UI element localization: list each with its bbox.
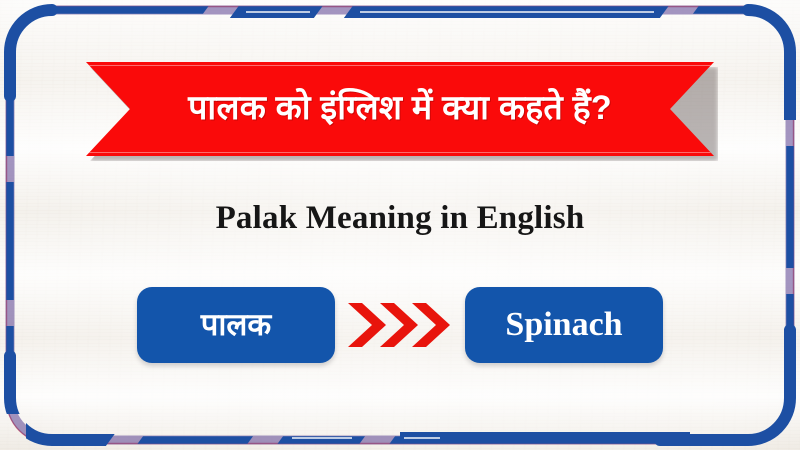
source-word-chip[interactable]: पालक bbox=[137, 287, 335, 363]
target-word-label: Spinach bbox=[505, 308, 622, 342]
triple-chevron-right-icon bbox=[335, 287, 465, 363]
poster-canvas: पालक को इंग्लिश में क्या कहते हैं? Palak… bbox=[0, 0, 800, 450]
translation-row: पालक Spinach bbox=[0, 286, 800, 364]
source-word-label: पालक bbox=[201, 309, 271, 342]
banner-question-text: पालक को इंग्लिश में क्या कहते हैं? bbox=[188, 91, 612, 128]
page-title: Palak Meaning in English bbox=[0, 200, 800, 237]
banner-body: पालक को इंग्लिश में क्या कहते हैं? bbox=[86, 62, 714, 156]
question-banner: पालक को इंग्लिश में क्या कहते हैं? bbox=[86, 62, 714, 156]
target-word-chip[interactable]: Spinach bbox=[465, 287, 663, 363]
